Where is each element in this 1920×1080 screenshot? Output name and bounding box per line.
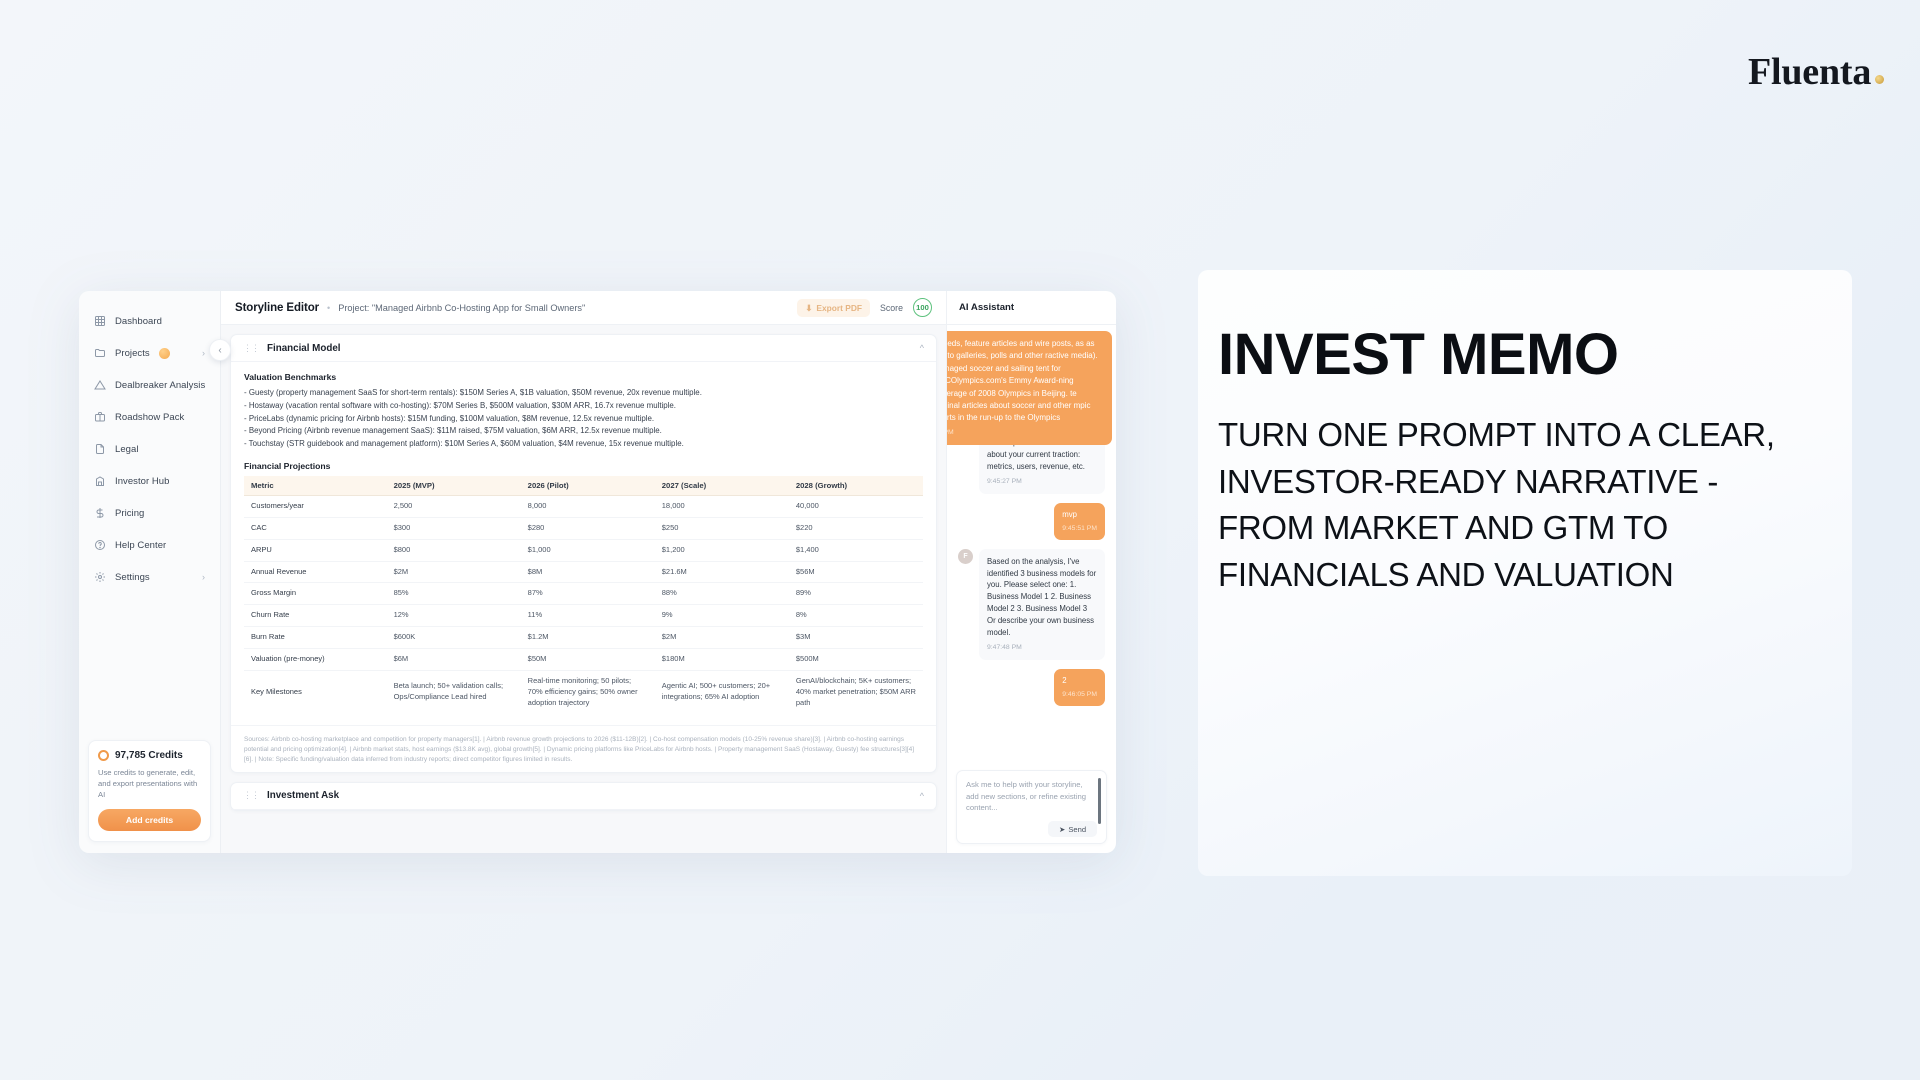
question-circle-icon — [94, 539, 106, 551]
table-row: Churn Rate12%11%9%8% — [244, 605, 923, 627]
sidebar-item-help-center[interactable]: Help Center — [84, 529, 215, 561]
column-header: 2028 (Growth) — [789, 476, 923, 496]
investment-ask-card-header[interactable]: ⋮⋮ Investment Ask ^ — [231, 783, 936, 810]
promo-panel: INVEST MEMO TURN ONE PROMPT INTO A CLEAR… — [1198, 270, 1852, 876]
cell: 40,000 — [789, 495, 923, 517]
cell: ARPU — [244, 539, 387, 561]
cell: $1,400 — [789, 539, 923, 561]
cell: Burn Rate — [244, 627, 387, 649]
bank-icon — [94, 475, 106, 487]
table-row: Valuation (pre-money)$6M$50M$180M$500M — [244, 649, 923, 671]
valuation-benchmarks-list: - Guesty (property management SaaS for s… — [244, 387, 923, 451]
message-bubble: mvp 9:45:51 PM — [1054, 503, 1105, 540]
gear-icon — [94, 571, 106, 583]
cell: 18,000 — [655, 495, 789, 517]
cell: Valuation (pre-money) — [244, 649, 387, 671]
ai-assistant-panel: AI Assistant o feeds, feature articles a… — [946, 291, 1116, 853]
cell: Gross Margin — [244, 583, 387, 605]
cell: 12% — [387, 605, 521, 627]
promo-heading: INVEST MEMO — [1218, 326, 1804, 384]
drag-handle-icon[interactable]: ⋮⋮ — [243, 791, 259, 800]
cell: $220 — [789, 517, 923, 539]
page-title: Storyline Editor — [235, 302, 319, 314]
sidebar: ‹ Dashboard Projects › Dealbreaker Analy… — [79, 291, 221, 853]
cell: $6M — [387, 649, 521, 671]
cell: $56M — [789, 561, 923, 583]
credits-description: Use credits to generate, edit, and expor… — [98, 767, 201, 800]
message-bubble: Based on the analysis, I've identified 3… — [979, 549, 1105, 660]
cell: 85% — [387, 583, 521, 605]
credits-coin-icon — [98, 750, 109, 761]
download-icon: ⬇ — [805, 303, 812, 313]
brand-dot-icon — [1875, 75, 1884, 84]
chevron-right-icon[interactable]: › — [202, 573, 205, 582]
credits-card: 97,785 Credits Use credits to generate, … — [88, 740, 211, 842]
message-text: o feeds, feature articles and wire posts… — [947, 339, 1098, 422]
sidebar-item-settings[interactable]: Settings › — [84, 561, 215, 593]
score-label: Score — [880, 303, 903, 313]
message-timestamp: 9:45:51 PM — [1062, 524, 1097, 534]
cell: $3M — [789, 627, 923, 649]
sidebar-item-label: Pricing — [115, 508, 144, 519]
cell: $8M — [521, 561, 655, 583]
message-text: Based on the analysis, I've identified 3… — [987, 557, 1096, 637]
column-header: 2026 (Pilot) — [521, 476, 655, 496]
list-item: - Guesty (property management SaaS for s… — [244, 387, 923, 400]
chat-message-overflow-wrap: o feeds, feature articles and wire posts… — [947, 331, 1116, 421]
list-item: - Hostaway (vacation rental software wit… — [244, 400, 923, 413]
ai-input-container: Ask me to help with your storyline, add … — [947, 770, 1116, 853]
ai-input-placeholder: Ask me to help with your storyline, add … — [966, 779, 1097, 814]
add-credits-button[interactable]: Add credits — [98, 809, 201, 831]
score-badge: 100 — [913, 298, 932, 317]
financial-projections-table: Metric 2025 (MVP) 2026 (Pilot) 2027 (Sca… — [244, 476, 923, 714]
table-body: Customers/year2,5008,00018,00040,000 CAC… — [244, 495, 923, 713]
project-name: Project: "Managed Airbnb Co-Hosting App … — [338, 303, 585, 313]
financial-model-card-body: Valuation Benchmarks - Guesty (property … — [231, 362, 936, 725]
brand-logo: Fluenta — [1748, 50, 1884, 94]
cell: GenAI/blockchain; 5K+ customers; 40% mar… — [789, 670, 923, 713]
cell: $1,200 — [655, 539, 789, 561]
drag-handle-icon[interactable]: ⋮⋮ — [243, 344, 259, 353]
warning-triangle-icon — [94, 379, 106, 391]
list-item: - Beyond Pricing (Airbnb revenue managem… — [244, 425, 923, 438]
cell: $1,000 — [521, 539, 655, 561]
chat-message-user: 2 9:46:05 PM — [947, 669, 1116, 706]
cell: Agentic AI; 500+ customers; 20+ integrat… — [655, 670, 789, 713]
financial-model-card: ⋮⋮ Financial Model ^ Valuation Benchmark… — [230, 334, 937, 773]
send-icon: ➤ — [1059, 825, 1065, 834]
send-button[interactable]: ➤ Send — [1048, 821, 1097, 837]
table-row: Annual Revenue$2M$8M$21.6M$56M — [244, 561, 923, 583]
cell: Customers/year — [244, 495, 387, 517]
brand-name: Fluenta — [1748, 51, 1871, 93]
cell: $280 — [521, 517, 655, 539]
ai-chat-thread[interactable]: o feeds, feature articles and wire posts… — [947, 325, 1116, 770]
sidebar-item-dealbreaker-analysis[interactable]: Dealbreaker Analysis — [84, 369, 215, 401]
editor-header-actions: ⬇ Export PDF Score 100 — [797, 298, 932, 317]
table-row: Burn Rate$600K$1.2M$2M$3M — [244, 627, 923, 649]
export-pdf-label: Export PDF — [816, 303, 862, 313]
cell: $2M — [387, 561, 521, 583]
sidebar-item-label: Roadshow Pack — [115, 412, 184, 423]
title-separator: • — [327, 303, 330, 313]
ai-message-input[interactable]: Ask me to help with your storyline, add … — [956, 770, 1107, 844]
briefcase-icon — [94, 411, 106, 423]
column-header: Metric — [244, 476, 387, 496]
sidebar-item-label: Dealbreaker Analysis — [115, 380, 205, 391]
ai-assistant-header: AI Assistant — [947, 291, 1116, 325]
sidebar-item-investor-hub[interactable]: Investor Hub — [84, 465, 215, 497]
chat-message-assistant: F Based on the analysis, I've identified… — [947, 549, 1116, 660]
credits-amount: 97,785 Credits — [115, 750, 183, 761]
chat-message-user: o feeds, feature articles and wire posts… — [947, 331, 1112, 445]
sidebar-item-label: Investor Hub — [115, 476, 169, 487]
cell: $800 — [387, 539, 521, 561]
ai-assistant-title: AI Assistant — [959, 302, 1014, 313]
sidebar-item-label: Dashboard — [115, 316, 162, 327]
table-header-row: Metric 2025 (MVP) 2026 (Pilot) 2027 (Sca… — [244, 476, 923, 496]
folder-icon — [94, 347, 106, 359]
sidebar-item-roadshow-pack[interactable]: Roadshow Pack — [84, 401, 215, 433]
cell: $1.2M — [521, 627, 655, 649]
cell: CAC — [244, 517, 387, 539]
avatar: F — [958, 549, 973, 564]
app-window: ‹ Dashboard Projects › Dealbreaker Analy… — [79, 291, 1116, 853]
investment-ask-card: ⋮⋮ Investment Ask ^ — [230, 782, 937, 811]
sidebar-item-label: Help Center — [115, 540, 166, 551]
chevron-up-icon[interactable]: ^ — [920, 343, 924, 353]
message-text: mvp — [1062, 510, 1077, 519]
card-title: Financial Model — [267, 343, 341, 354]
cell: $21.6M — [655, 561, 789, 583]
cell: $2M — [655, 627, 789, 649]
table-row: CAC$300$280$250$220 — [244, 517, 923, 539]
sidebar-item-pricing[interactable]: Pricing — [84, 497, 215, 529]
send-label: Send — [1068, 825, 1086, 834]
cell: Real-time monitoring; 50 pilots; 70% eff… — [521, 670, 655, 713]
message-timestamp: 9:45:27 PM — [987, 477, 1097, 487]
credits-header: 97,785 Credits — [98, 750, 201, 761]
cell: 11% — [521, 605, 655, 627]
cell: Key Milestones — [244, 670, 387, 713]
table-row: Key MilestonesBeta launch; 50+ validatio… — [244, 670, 923, 713]
cell: $50M — [521, 649, 655, 671]
cell: Annual Revenue — [244, 561, 387, 583]
table-row: ARPU$800$1,000$1,200$1,400 — [244, 539, 923, 561]
sidebar-item-legal[interactable]: Legal — [84, 433, 215, 465]
cell: 89% — [789, 583, 923, 605]
valuation-benchmarks-heading: Valuation Benchmarks — [244, 372, 923, 382]
cell: 9% — [655, 605, 789, 627]
sidebar-item-label: Projects — [115, 348, 150, 359]
document-icon — [94, 443, 106, 455]
input-scrollbar[interactable] — [1098, 778, 1101, 824]
chat-message-user: mvp 9:45:51 PM — [947, 503, 1116, 540]
message-text: 2 — [1062, 676, 1066, 685]
chevron-up-icon[interactable]: ^ — [920, 791, 924, 801]
financial-projections-heading: Financial Projections — [244, 461, 923, 471]
cell: 87% — [521, 583, 655, 605]
cell: $250 — [655, 517, 789, 539]
dollar-icon — [94, 507, 106, 519]
message-timestamp: 46 PM — [947, 428, 1103, 439]
grid-icon — [94, 315, 106, 327]
editor-header: Storyline Editor • Project: "Managed Air… — [221, 291, 946, 325]
column-header: 2025 (MVP) — [387, 476, 521, 496]
list-item: - Touchstay (STR guidebook and managemen… — [244, 438, 923, 451]
editor-panel: Storyline Editor • Project: "Managed Air… — [221, 291, 946, 853]
message-timestamp: 9:47:48 PM — [987, 643, 1097, 653]
cell: $180M — [655, 649, 789, 671]
table-row: Customers/year2,5008,00018,00040,000 — [244, 495, 923, 517]
cell: $600K — [387, 627, 521, 649]
list-item: - PriceLabs (dynamic pricing for Airbnb … — [244, 413, 923, 426]
card-title: Investment Ask — [267, 790, 339, 801]
financial-model-card-header[interactable]: ⋮⋮ Financial Model ^ — [231, 335, 936, 362]
sidebar-item-dashboard[interactable]: Dashboard — [84, 305, 215, 337]
sidebar-item-label: Settings — [115, 572, 150, 583]
editor-content: ⋮⋮ Financial Model ^ Valuation Benchmark… — [221, 325, 946, 853]
sources-footnote: Sources: Airbnb co-hosting marketplace a… — [231, 725, 936, 772]
column-header: 2027 (Scale) — [655, 476, 789, 496]
cell: 8% — [789, 605, 923, 627]
sidebar-item-projects[interactable]: Projects › — [84, 337, 215, 369]
cell: 2,500 — [387, 495, 521, 517]
promo-body: TURN ONE PROMPT INTO A CLEAR, INVESTOR-R… — [1218, 412, 1804, 598]
cell: 88% — [655, 583, 789, 605]
cell: Churn Rate — [244, 605, 387, 627]
sidebar-item-label: Legal — [115, 444, 139, 455]
export-pdf-button[interactable]: ⬇ Export PDF — [797, 299, 870, 317]
table-row: Gross Margin85%87%88%89% — [244, 583, 923, 605]
message-bubble: 2 9:46:05 PM — [1054, 669, 1105, 706]
sidebar-collapse-button[interactable]: ‹ — [209, 339, 231, 361]
message-timestamp: 9:46:05 PM — [1062, 690, 1097, 700]
cell: $300 — [387, 517, 521, 539]
cell: $500M — [789, 649, 923, 671]
projects-badge-icon — [159, 348, 170, 359]
chevron-right-icon[interactable]: › — [202, 349, 205, 358]
cell: Beta launch; 50+ validation calls; Ops/C… — [387, 670, 521, 713]
cell: 8,000 — [521, 495, 655, 517]
